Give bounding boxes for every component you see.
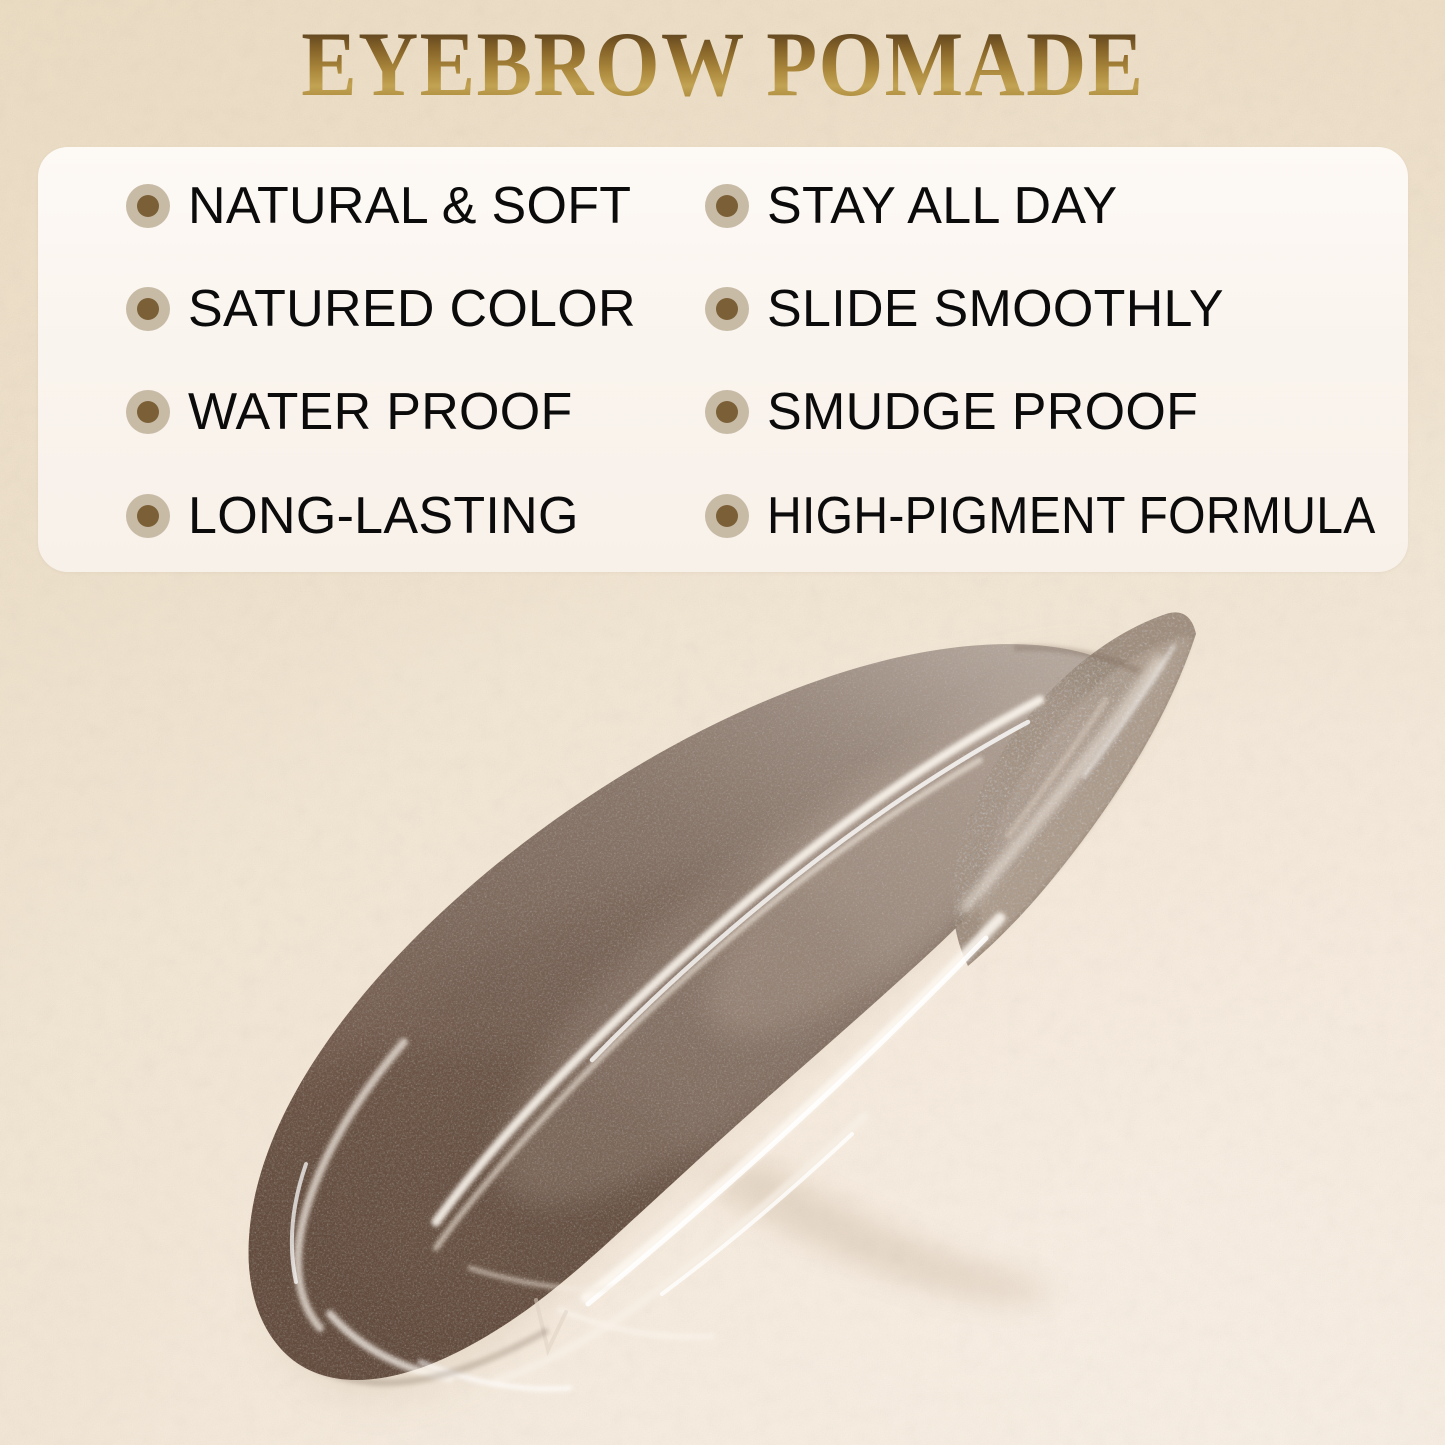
feature-label: NATURAL & SOFT	[188, 180, 631, 232]
feature-item-long-lasting: LONG-LASTING	[126, 487, 579, 545]
feature-list-grid: NATURAL & SOFT SATURED COLOR WATER PROOF…	[38, 147, 1408, 572]
bullet-dot-icon	[126, 287, 170, 331]
feature-item-water-proof: WATER PROOF	[126, 383, 573, 441]
feature-item-high-pigment-formula: HIGH-PIGMENT FORMULA	[705, 487, 1425, 545]
feature-item-smudge-proof: SMUDGE PROOF	[705, 383, 1198, 441]
bullet-dot-icon	[126, 494, 170, 538]
feature-item-stay-all-day: STAY ALL DAY	[705, 177, 1117, 235]
feature-label: SATURED COLOR	[188, 283, 636, 335]
feature-list-card: NATURAL & SOFT SATURED COLOR WATER PROOF…	[38, 147, 1408, 572]
feature-label: LONG-LASTING	[188, 490, 579, 542]
feature-label: WATER PROOF	[188, 386, 573, 438]
feature-item-natural-soft: NATURAL & SOFT	[126, 177, 631, 235]
product-feature-image: EYEBROW POMADE NATURAL & SOFT SATURED CO…	[0, 0, 1445, 1445]
bullet-dot-icon	[705, 390, 749, 434]
bullet-dot-icon	[705, 287, 749, 331]
bullet-dot-icon	[126, 184, 170, 228]
page-title-container: EYEBROW POMADE	[0, 18, 1445, 110]
feature-label: SMUDGE PROOF	[767, 386, 1198, 438]
bullet-dot-icon	[705, 494, 749, 538]
feature-item-satured-color: SATURED COLOR	[126, 280, 636, 338]
feature-label: HIGH-PIGMENT FORMULA	[767, 490, 1376, 542]
feature-label: STAY ALL DAY	[767, 180, 1117, 232]
bullet-dot-icon	[705, 184, 749, 228]
feature-label: SLIDE SMOOTHLY	[767, 283, 1224, 335]
feature-item-slide-smoothly: SLIDE SMOOTHLY	[705, 280, 1224, 338]
page-title: EYEBROW POMADE	[301, 18, 1144, 110]
bullet-dot-icon	[126, 390, 170, 434]
